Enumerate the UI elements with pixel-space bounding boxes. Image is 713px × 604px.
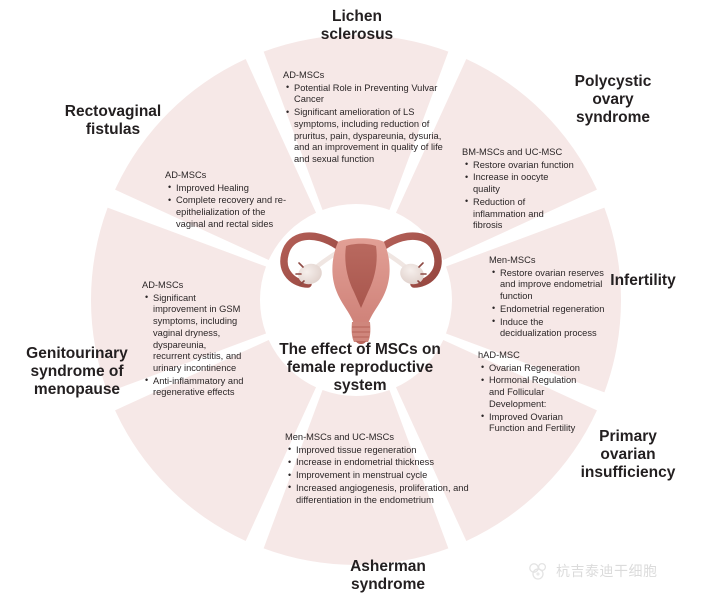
segment-source-label: BM-MSCs and UC-MSC: [462, 147, 574, 159]
cell-cluster-icon: [528, 562, 550, 580]
watermark-text: 杭吉泰迪干细胞: [556, 561, 658, 581]
segment-item: Endometrial regeneration: [500, 304, 605, 316]
segment-item: Significant improvement in GSM symptoms,…: [153, 293, 246, 375]
segment-item: Anti-inflammatory and regenerative effec…: [153, 376, 246, 399]
outer-label-asherman-syndrome: Asherman syndrome: [318, 558, 458, 594]
watermark: 杭吉泰迪干细胞: [528, 561, 658, 581]
segment-source-label: AD-MSCs: [165, 170, 295, 182]
infographic-canvas: Lichen sclerosus Polycystic ovary syndro…: [0, 0, 713, 604]
segment-item: Increase in oocyte quality: [473, 172, 574, 195]
segment-source-label: hAD-MSC: [478, 350, 582, 362]
segment-item: Potential Role in Preventing Vulvar Canc…: [294, 83, 449, 106]
segment-item: Significant amelioration of LS symptoms,…: [294, 107, 449, 166]
segment-item-list: Restore ovarian functionIncrease in oocy…: [462, 160, 574, 232]
segment-item: Hormonal Regulation and Follicular Devel…: [489, 375, 582, 410]
segment-item: Reduction of inflammation and fibrosis: [473, 197, 574, 232]
outer-label-polycystic-ovary-syndrome: Polycystic ovary syndrome: [543, 73, 683, 127]
segment-item: Ovarian Regeneration: [489, 363, 582, 375]
outer-label-rectovaginal-fistulas: Rectovaginal fistulas: [38, 103, 188, 139]
segment-source-label: Men-MSCs: [489, 255, 605, 267]
segment-item: Improved Healing: [176, 183, 295, 195]
segment-item-list: Restore ovarian reserves and improve end…: [489, 268, 605, 340]
segment-item-list: Potential Role in Preventing Vulvar Canc…: [283, 83, 449, 166]
segment-item: Restore ovarian function: [473, 160, 574, 172]
outer-label-genitourinary-syndrome-of-menopause: Genitourinary syndrome of menopause: [2, 345, 152, 399]
segment-item: Restore ovarian reserves and improve end…: [500, 268, 605, 303]
segment-polycystic-ovary-syndrome: BM-MSCs and UC-MSC Restore ovarian funct…: [462, 147, 574, 233]
segment-lichen-sclerosus: AD-MSCs Potential Role in Preventing Vul…: [283, 70, 449, 167]
outer-label-primary-ovarian-insufficiency: Primary ovarian insufficiency: [553, 428, 703, 482]
segment-primary-ovarian-insufficiency: hAD-MSC Ovarian RegenerationHormonal Reg…: [478, 350, 582, 436]
segment-item: Improved tissue regeneration: [296, 445, 475, 457]
segment-item-list: Ovarian RegenerationHormonal Regulation …: [478, 363, 582, 435]
segment-source-label: AD-MSCs: [142, 280, 246, 292]
segment-item: Induce the decidualization process: [500, 317, 605, 340]
segment-item-list: Improved tissue regenerationIncrease in …: [285, 445, 475, 507]
segment-infertility: Men-MSCs Restore ovarian reserves and im…: [489, 255, 605, 341]
segment-item: Improvement in menstrual cycle: [296, 470, 475, 482]
segment-item: Increased angiogenesis, proliferation, a…: [296, 483, 475, 506]
uterus-ovaries-illustration: [268, 212, 454, 344]
segment-item-list: Significant improvement in GSM symptoms,…: [142, 293, 246, 399]
segment-item: Improved Ovarian Function and Fertility: [489, 412, 582, 435]
segment-asherman-syndrome: Men-MSCs and UC-MSCs Improved tissue reg…: [285, 432, 475, 507]
outer-label-lichen-sclerosus: Lichen sclerosus: [292, 8, 422, 44]
segment-source-label: AD-MSCs: [283, 70, 449, 82]
segment-genitourinary-syndrome-of-menopause: AD-MSCs Significant improvement in GSM s…: [142, 280, 246, 400]
center-title: The effect of MSCs on female reproductiv…: [263, 341, 457, 396]
segment-item: Increase in endometrial thickness: [296, 457, 475, 469]
segment-source-label: Men-MSCs and UC-MSCs: [285, 432, 475, 444]
